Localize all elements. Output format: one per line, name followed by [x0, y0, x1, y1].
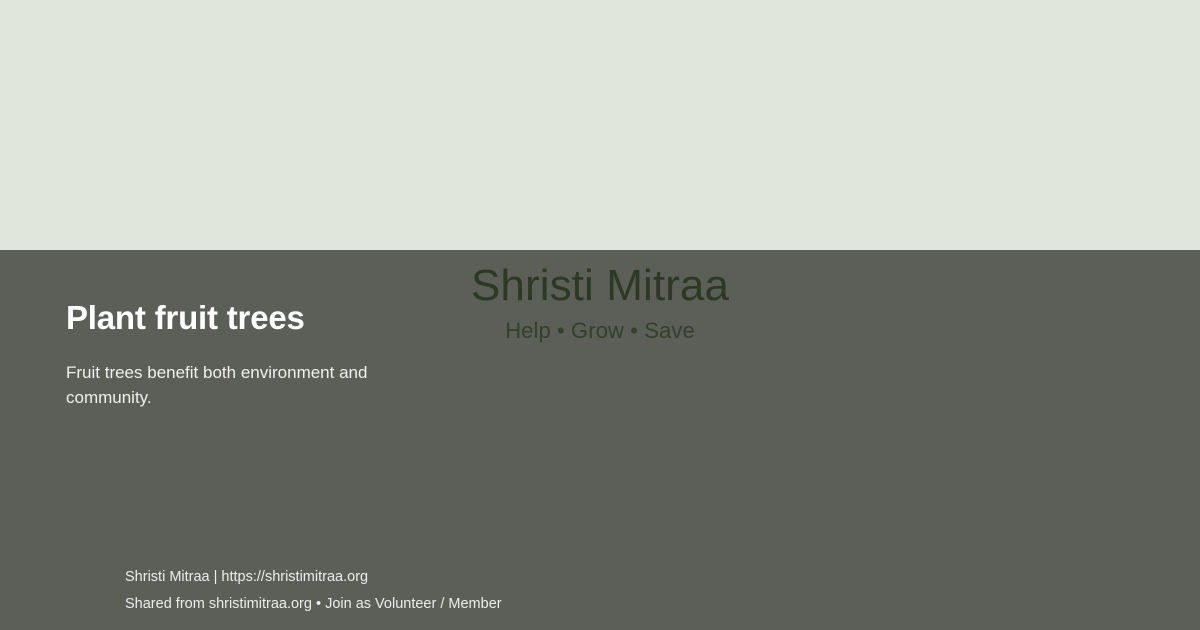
page-title: Plant fruit trees [66, 298, 426, 338]
footer-attribution: Shristi Mitraa | https://shristimitraa.o… [125, 564, 1025, 618]
footer-site-line: Shristi Mitraa | https://shristimitraa.o… [125, 564, 1025, 591]
headline-block: Plant fruit trees Fruit trees benefit bo… [66, 298, 426, 411]
open-graph-share-card: Shristi Mitraa Help • Grow • Save Plant … [0, 0, 1200, 630]
page-subtitle: Fruit trees benefit both environment and… [66, 360, 414, 412]
hero-image-band [0, 0, 1200, 250]
footer-share-line: Shared from shristimitraa.org • Join as … [125, 591, 1025, 618]
